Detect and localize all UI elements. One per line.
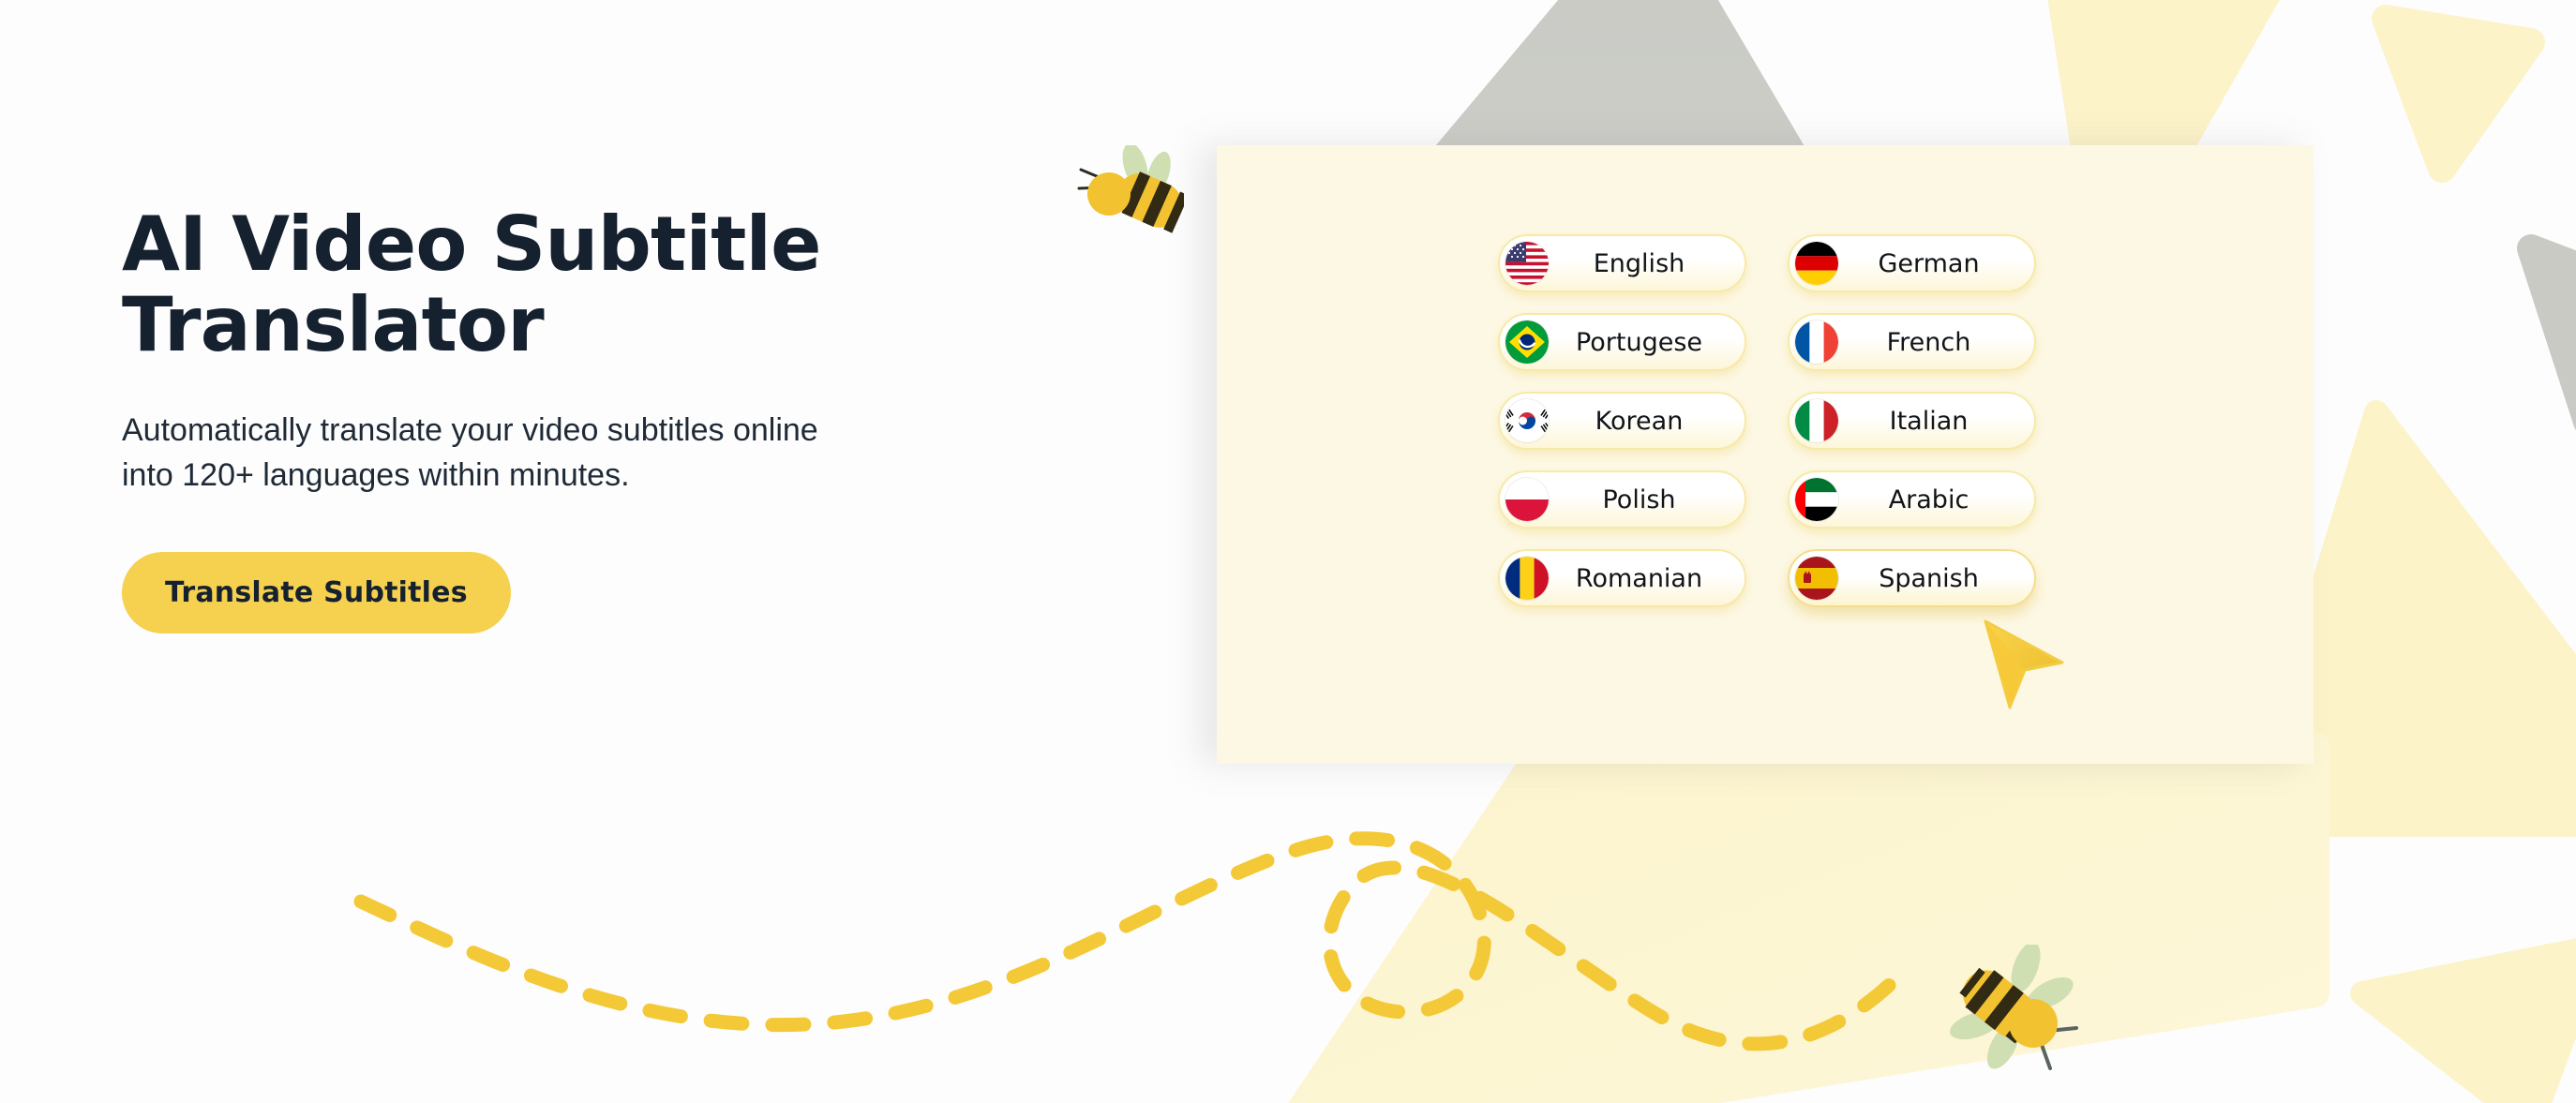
language-selection-card: English German bbox=[1217, 145, 2314, 764]
language-grid: English German bbox=[1498, 234, 2051, 607]
pale-triangle-bottom-right bbox=[2362, 946, 2576, 1103]
language-pill-korean[interactable]: Korean bbox=[1498, 392, 1746, 450]
language-label: Korean bbox=[1549, 407, 1739, 436]
flag-ro-icon bbox=[1505, 557, 1549, 600]
language-label: French bbox=[1838, 328, 2029, 357]
language-label: Italian bbox=[1838, 407, 2029, 436]
hero-section: AI Video Subtitle Translator Automatical… bbox=[0, 0, 2576, 1103]
language-pill-spanish[interactable]: Spanish bbox=[1788, 549, 2036, 607]
hero-subtitle: Automatically translate your video subti… bbox=[122, 408, 1106, 499]
language-label: German bbox=[1838, 249, 2029, 278]
language-label: Romanian bbox=[1549, 564, 1739, 593]
bee-body bbox=[1110, 166, 1184, 234]
flag-kr-icon bbox=[1505, 399, 1549, 442]
flag-us-icon bbox=[1505, 242, 1549, 285]
flag-ae-icon bbox=[1795, 478, 1838, 521]
language-label: Spanish bbox=[1838, 564, 2029, 593]
flag-it-icon bbox=[1795, 399, 1838, 442]
bee-antennae bbox=[1079, 170, 1103, 188]
language-pill-polish[interactable]: Polish bbox=[1498, 470, 1746, 529]
dashed-flight-path bbox=[361, 839, 1908, 1044]
bee-icon-bottom bbox=[1936, 945, 2090, 1076]
flag-br-icon bbox=[1505, 320, 1549, 364]
bee-head bbox=[2009, 999, 2058, 1048]
flag-fr-icon bbox=[1795, 320, 1838, 364]
language-label: Arabic bbox=[1838, 485, 2029, 514]
flag-de-icon bbox=[1795, 242, 1838, 285]
language-label: English bbox=[1549, 249, 1739, 278]
language-label: Portugese bbox=[1549, 328, 1739, 357]
language-pill-romanian[interactable]: Romanian bbox=[1498, 549, 1746, 607]
language-pill-english[interactable]: English bbox=[1498, 234, 1746, 292]
language-pill-italian[interactable]: Italian bbox=[1788, 392, 2036, 450]
bee-wings bbox=[1946, 945, 2078, 1074]
pale-triangle-top-right bbox=[2386, 19, 2531, 169]
bee-body bbox=[1954, 961, 2046, 1047]
bee-legs bbox=[2041, 1028, 2076, 1068]
pale-large-bottom-shape bbox=[1266, 746, 2315, 1103]
language-pill-portugese[interactable]: Portugese bbox=[1498, 313, 1746, 371]
bee-wings bbox=[1118, 145, 1176, 198]
hero-text-block: AI Video Subtitle Translator Automatical… bbox=[122, 204, 1106, 633]
language-pill-french[interactable]: French bbox=[1788, 313, 2036, 371]
language-pill-german[interactable]: German bbox=[1788, 234, 2036, 292]
flag-es-icon bbox=[1795, 557, 1838, 600]
translate-subtitles-button[interactable]: Translate Subtitles bbox=[122, 552, 511, 633]
page-title: AI Video Subtitle Translator bbox=[122, 204, 1106, 366]
language-label: Polish bbox=[1549, 485, 1739, 514]
language-pill-arabic[interactable]: Arabic bbox=[1788, 470, 2036, 529]
gray-wedge-right bbox=[2531, 248, 2576, 422]
flag-pl-icon bbox=[1505, 478, 1549, 521]
